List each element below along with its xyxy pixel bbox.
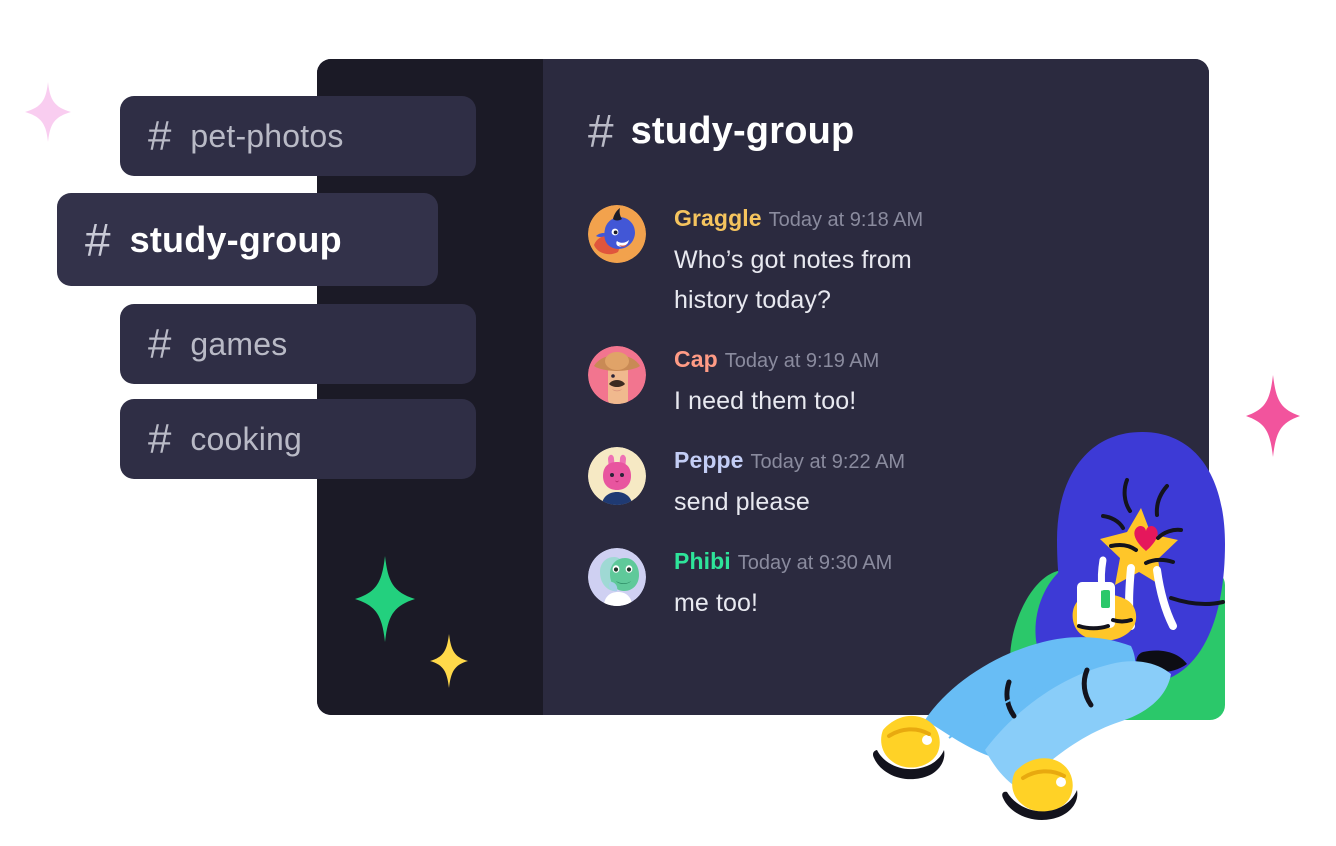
message-meta: GraggleToday at 9:18 AM: [674, 207, 974, 230]
channel-header: # study-group: [588, 108, 854, 154]
sparkle-icon-green: [355, 556, 415, 642]
message-body: PhibiToday at 9:30 AM me too!: [674, 548, 892, 623]
message-body: CapToday at 9:19 AM I need them too!: [674, 346, 879, 421]
hash-icon: #: [588, 108, 613, 154]
message-author: Peppe: [674, 447, 744, 473]
message-author: Graggle: [674, 205, 762, 231]
sidebar-item-label: pet-photos: [190, 118, 343, 155]
sidebar-item-label: games: [190, 326, 287, 363]
avatar-bunny[interactable]: [588, 447, 646, 505]
sidebar-item-cooking[interactable]: # cooking: [120, 399, 476, 479]
sparkle-icon-yellow: [430, 634, 468, 688]
hash-icon: #: [148, 115, 170, 157]
message-item: GraggleToday at 9:18 AM Who’s got notes …: [588, 205, 1058, 320]
message-author: Cap: [674, 346, 718, 372]
hash-icon: #: [148, 418, 170, 460]
message-body: GraggleToday at 9:18 AM Who’s got notes …: [674, 205, 974, 320]
hash-icon: #: [85, 217, 110, 263]
message-author: Phibi: [674, 548, 731, 574]
page-title: study-group: [631, 110, 855, 153]
sidebar-item-study-group[interactable]: # study-group: [57, 193, 438, 286]
message-meta: PhibiToday at 9:30 AM: [674, 550, 892, 573]
message-meta: CapToday at 9:19 AM: [674, 348, 879, 371]
avatar-cap[interactable]: [588, 346, 646, 404]
message-timestamp: Today at 9:18 AM: [769, 209, 924, 231]
avatar-frog[interactable]: [588, 548, 646, 606]
sidebar-item-pet-photos[interactable]: # pet-photos: [120, 96, 476, 176]
seated-person-with-phone-illustration: [865, 420, 1265, 820]
hash-icon: #: [148, 323, 170, 365]
sidebar-item-label: study-group: [130, 219, 342, 261]
message-item: CapToday at 9:19 AM I need them too!: [588, 346, 1058, 421]
message-text: I need them too!: [674, 381, 879, 421]
message-text: me too!: [674, 583, 892, 623]
sidebar-item-games[interactable]: # games: [120, 304, 476, 384]
avatar-genie[interactable]: [588, 205, 646, 263]
message-timestamp: Today at 9:19 AM: [725, 350, 880, 372]
sidebar-item-label: cooking: [190, 421, 302, 458]
sparkle-icon-pink: [25, 82, 71, 142]
message-text: Who’s got notes from history today?: [674, 240, 974, 320]
